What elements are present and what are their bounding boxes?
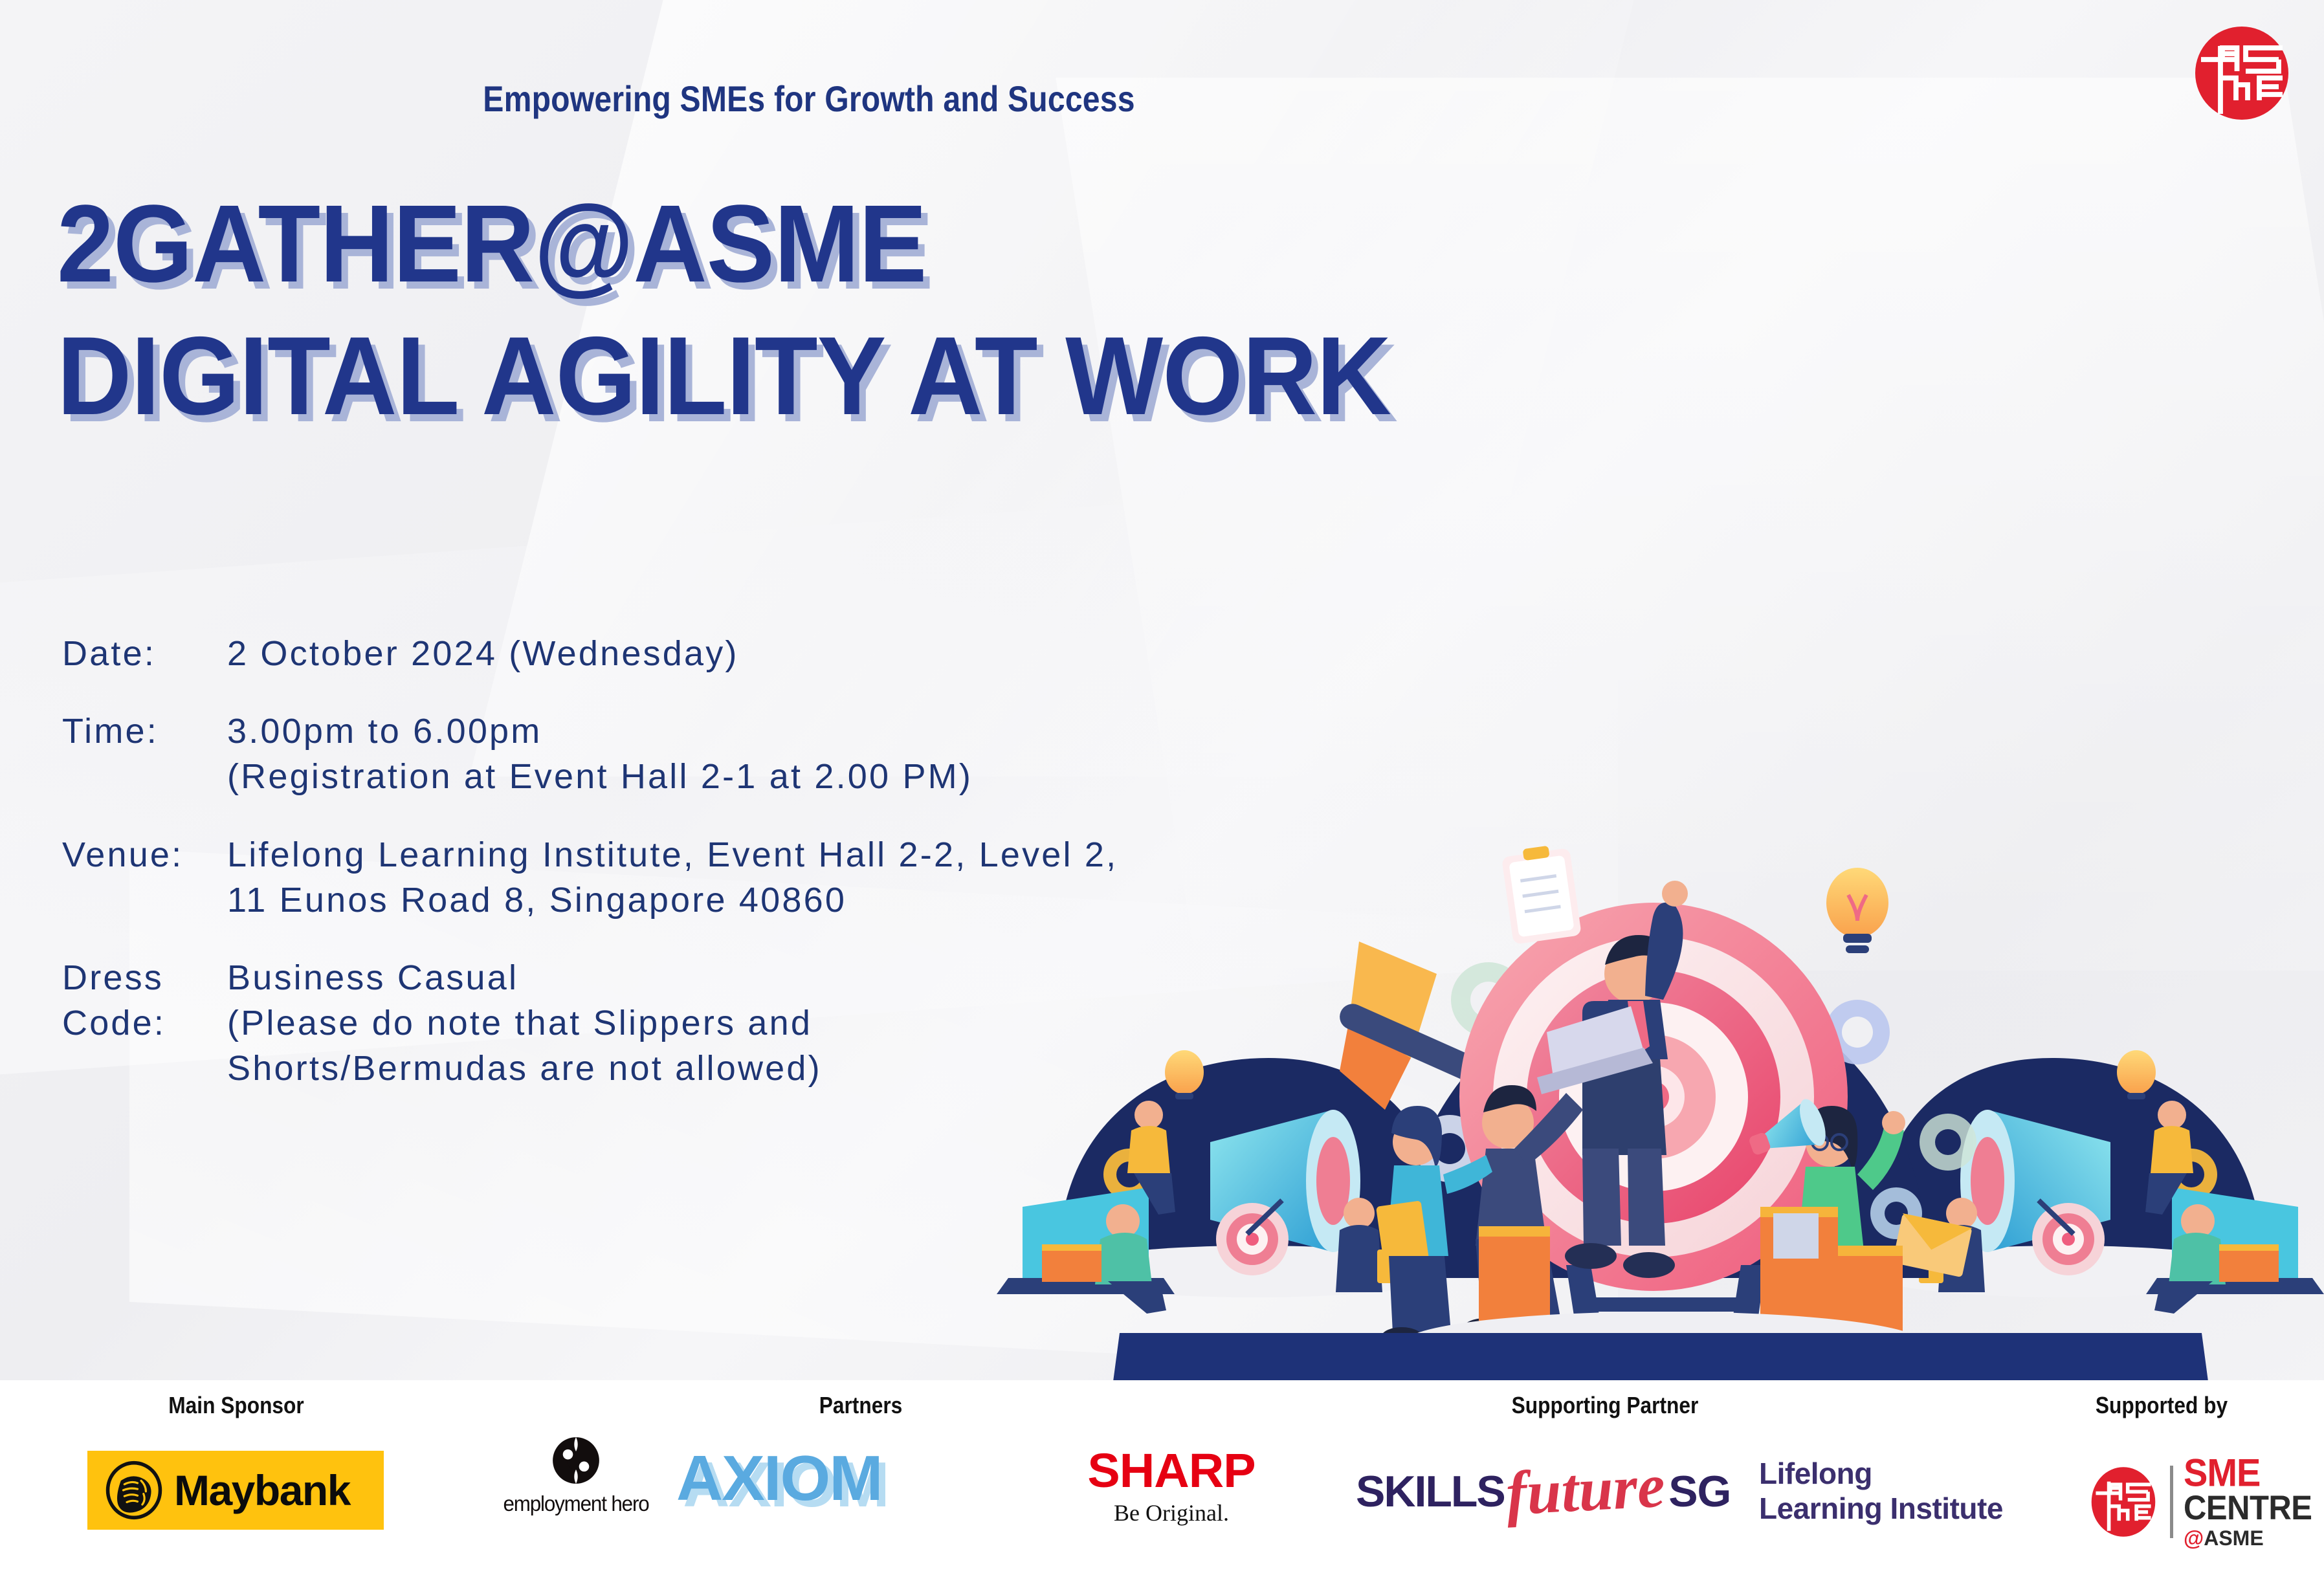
footer-label-supported-by: Supported by [2053, 1392, 2270, 1419]
event-poster: Empowering SMEs for Growth and Success 2… [0, 0, 2324, 1586]
platform-base [1113, 1333, 2208, 1382]
logo-axiom[interactable]: AXIOM [676, 1442, 881, 1515]
lli-line-2: Learning Institute [1759, 1491, 2003, 1526]
sme-centre-asme-icon [2087, 1466, 2160, 1538]
maybank-tiger-icon [104, 1460, 164, 1520]
dress-label-2: Code: [62, 1000, 227, 1046]
employment-hero-wordmark: employment hero [502, 1492, 650, 1516]
detail-label-dress-code: Dress Code: [62, 955, 227, 1092]
skillsfuture-skills-text: SKILLS [1356, 1466, 1505, 1517]
footer-label-partners: Partners [769, 1392, 952, 1419]
poster-tagline: Empowering SMEs for Growth and Success [113, 78, 1505, 120]
detail-row-date: Date: 2 October 2024 (Wednesday) [62, 631, 1356, 676]
detail-value-date: 2 October 2024 (Wednesday) [227, 631, 1356, 676]
lli-line-1: Lifelong [1759, 1456, 2003, 1491]
illustration-side-scene-right [1865, 1050, 2324, 1314]
asme-suffix-text: @ASME [2184, 1528, 2312, 1548]
logo-sme-centre-asme[interactable]: SME CENTRE @ASME [2087, 1455, 2312, 1548]
sharp-tagline: Be Original. [1065, 1499, 1278, 1526]
detail-label-date: Date: [62, 631, 227, 676]
asme-logo-icon [2193, 25, 2290, 122]
business-achievement-illustration [997, 696, 2324, 1382]
logo-sharp[interactable]: SHARP Be Original. [1065, 1443, 1278, 1526]
detail-label-venue: Venue: [62, 832, 227, 923]
employment-hero-icon [551, 1435, 601, 1486]
sme-centre-divider [2170, 1466, 2173, 1538]
page-title: 2GATHER@ASME DIGITAL AGILITY AT WORK [57, 188, 1491, 434]
sharp-wordmark: SHARP [1063, 1443, 1281, 1498]
logo-maybank[interactable]: Maybank [87, 1451, 384, 1530]
centre-text: CENTRE [2184, 1492, 2312, 1526]
logo-employment-hero[interactable]: employment hero [498, 1435, 654, 1516]
illustration-center-scene [1336, 843, 1976, 1374]
footer-label-supporting-partner: Supporting Partner [1485, 1392, 1725, 1419]
maybank-wordmark: Maybank [174, 1466, 350, 1515]
clipboard-icon [1501, 843, 1582, 944]
sme-text: SME [2184, 1453, 2312, 1492]
lightbulb-icon [1826, 868, 1888, 953]
detail-label-time: Time: [62, 709, 227, 799]
footer-label-main-sponsor: Main Sponsor [145, 1392, 327, 1419]
date-line-1: 2 October 2024 (Wednesday) [227, 631, 1356, 676]
skillsfuture-future-text: future [1504, 1449, 1666, 1530]
title-line-2: DIGITAL AGILITY AT WORK [57, 319, 1391, 434]
logo-lifelong-learning-institute[interactable]: Lifelong Learning Institute [1759, 1456, 2003, 1526]
logo-skillsfuture-sg[interactable]: SKILLS future SG [1356, 1449, 1731, 1521]
skillsfuture-sg-text: SG [1668, 1466, 1731, 1517]
dress-label-1: Dress [62, 958, 164, 997]
title-line-1: 2GATHER@ASME [57, 188, 1391, 301]
